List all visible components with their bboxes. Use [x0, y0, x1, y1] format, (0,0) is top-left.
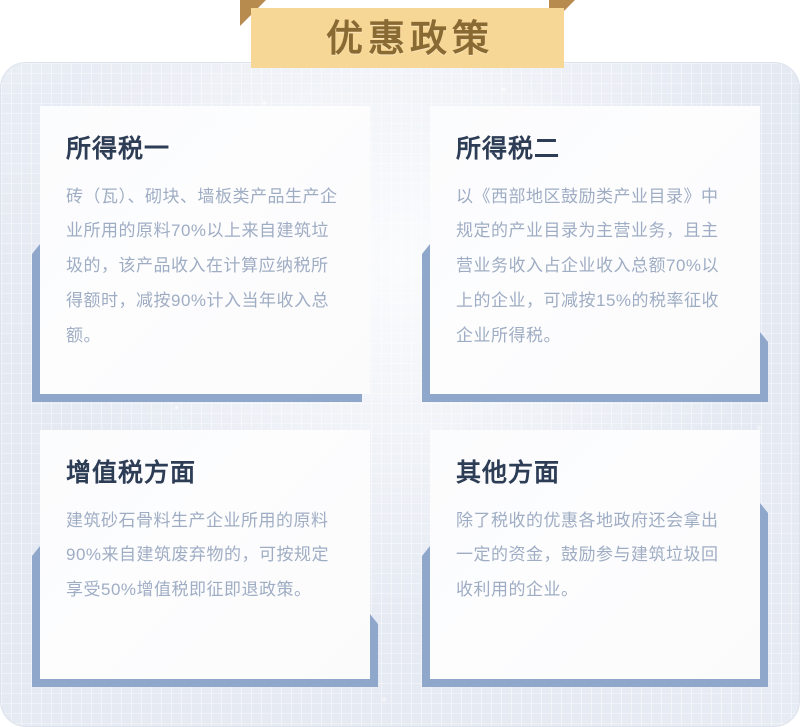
card-income-tax-2[interactable]: 所得税二 以《西部地区鼓励类产业目录》中规定的产业目录为主营业务，且主营业务收入… — [430, 106, 760, 394]
card-4-shadow-left — [422, 556, 430, 687]
card-3-shadow-left-bevel — [32, 546, 40, 556]
card-3-shadow-right — [370, 624, 378, 687]
card-1-body: 砖（瓦）、砌块、墙板类产品生产企业所用的原料70%以上来自建筑垃圾的，该产品收入… — [66, 180, 344, 354]
card-4-shadow-right — [760, 513, 768, 687]
banner-title: 优惠政策 — [321, 20, 494, 57]
card-grid: 所得税一 砖（瓦）、砌块、墙板类产品生产企业所用的原料70%以上来自建筑垃圾的，… — [0, 62, 800, 727]
card-4-shadow-bottom — [422, 679, 768, 687]
card-vat[interactable]: 增值税方面 建筑砂石骨料生产企业所用的原料90%来自建筑废弃物的，可按规定享受5… — [40, 430, 370, 679]
card-1-shadow-left — [32, 254, 40, 402]
card-3-body: 建筑砂石骨料生产企业所用的原料90%来自建筑废弃物的，可按规定享受50%增值税即… — [66, 504, 344, 609]
card-2-shadow-left — [422, 254, 430, 402]
card-4-body: 除了税收的优惠各地政府还会拿出一定的资金，鼓励参与建筑垃圾回收利用的企业。 — [456, 504, 734, 609]
card-3-title: 增值税方面 — [66, 460, 344, 488]
card-2-shadow-right — [760, 342, 768, 402]
card-1-shadow-bottom — [32, 394, 362, 402]
card-2-body: 以《西部地区鼓励类产业目录》中规定的产业目录为主营业务，且主营业务收入占企业收入… — [456, 180, 734, 354]
card-4-shadow-right-bevel — [760, 503, 768, 513]
banner-plate: 优惠政策 — [251, 8, 564, 68]
card-4-shadow-left-bevel — [422, 546, 430, 556]
card-1-title: 所得税一 — [66, 136, 344, 164]
card-3-shadow-bottom — [32, 679, 378, 687]
card-4-title: 其他方面 — [456, 460, 734, 488]
card-2-shadow-right-bevel — [760, 332, 768, 342]
banner: 优惠政策 — [240, 0, 575, 68]
card-2-shadow-bottom — [422, 394, 768, 402]
card-2-shadow-left-bevel — [422, 244, 430, 254]
card-other[interactable]: 其他方面 除了税收的优惠各地政府还会拿出一定的资金，鼓励参与建筑垃圾回收利用的企… — [430, 430, 760, 679]
card-1-shadow-bevel — [32, 244, 40, 254]
card-2-title: 所得税二 — [456, 136, 734, 164]
card-3-shadow-right-bevel — [370, 614, 378, 624]
policy-poster: 优惠政策 所得税一 砖（瓦）、砌块、墙板类产品生产企业所用的原料70%以上来自建… — [0, 0, 800, 727]
card-3-shadow-left — [32, 556, 40, 687]
card-income-tax-1[interactable]: 所得税一 砖（瓦）、砌块、墙板类产品生产企业所用的原料70%以上来自建筑垃圾的，… — [40, 106, 370, 394]
